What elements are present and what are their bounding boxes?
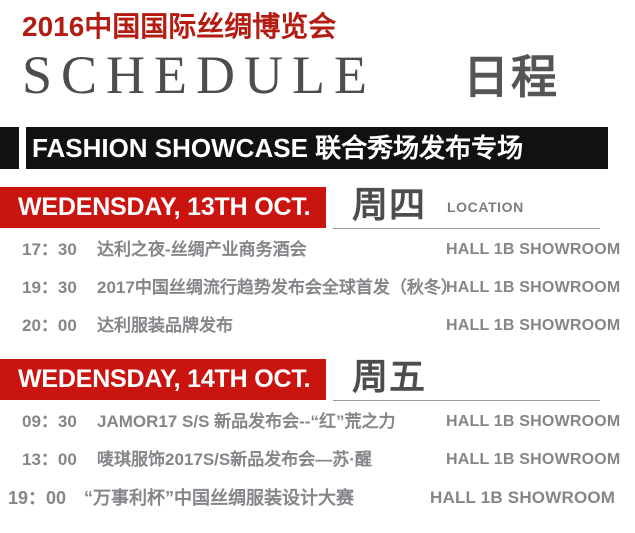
row-location: HALL 1B SHOWROOM (446, 403, 620, 441)
page-title-chinese: 日程 (463, 50, 559, 104)
row-event-title: 2017中国丝绸流行趋势发布会全球首发（秋冬） (97, 269, 458, 307)
row-time: 17：30 (22, 231, 94, 269)
row-event-title: JAMOR17 S/S 新品发布会--“红”荒之力 (97, 403, 395, 441)
day-rows-1: 17：30达利之夜-丝绸产业商务酒会HALL 1B SHOWROOM19：302… (0, 231, 635, 345)
day-date-label-2: WEDENSDAY, 14TH OCT. (18, 359, 310, 400)
row-location: HALL 1B SHOWROOM (446, 269, 620, 307)
schedule-row: 19：302017中国丝绸流行趋势发布会全球首发（秋冬）HALL 1B SHOW… (0, 269, 635, 307)
schedule-row: 09：30JAMOR17 S/S 新品发布会--“红”荒之力HALL 1B SH… (0, 403, 635, 441)
fashion-showcase-label: FASHION SHOWCASE 联合秀场发布专场 (32, 127, 523, 169)
day-weekday-1: 周四 (352, 181, 426, 229)
row-location: HALL 1B SHOWROOM (446, 231, 620, 269)
schedule-row: 17：30达利之夜-丝绸产业商务酒会HALL 1B SHOWROOM (0, 231, 635, 269)
row-location: HALL 1B SHOWROOM (446, 441, 620, 479)
row-event-title: 达利服装品牌发布 (97, 307, 233, 345)
day-date-label-1: WEDENSDAY, 13TH OCT. (18, 187, 310, 228)
day-date-ribbon-2: WEDENSDAY, 14TH OCT. (0, 359, 326, 400)
page-title: SCHEDULE (22, 44, 376, 106)
location-column-header: LOCATION (447, 197, 524, 217)
day-rule-2 (333, 400, 600, 401)
row-event-title: 达利之夜-丝绸产业商务酒会 (97, 231, 307, 269)
fashion-showcase-band: FASHION SHOWCASE 联合秀场发布专场 (0, 127, 608, 169)
row-time: 09：30 (22, 403, 94, 441)
row-time: 13：00 (22, 441, 94, 479)
day-header-2: WEDENSDAY, 14TH OCT. 周五 (0, 355, 635, 403)
day-rule-1 (333, 228, 600, 229)
day-block-2: WEDENSDAY, 14TH OCT. 周五 09：30JAMOR17 S/S… (0, 355, 635, 403)
schedule-row: 19：00“万事利杯”中国丝绸服装设计大赛HALL 1B SHOWROOM (0, 479, 635, 517)
row-location: HALL 1B SHOWROOM (430, 479, 615, 517)
schedule-row: 13：00唛琪服饰2017S/S新品发布会—苏·醒HALL 1B SHOWROO… (0, 441, 635, 479)
day-date-ribbon-1: WEDENSDAY, 13TH OCT. (0, 187, 326, 228)
expo-title: 2016中国国际丝绸博览会 (22, 10, 336, 44)
day-rows-2: 09：30JAMOR17 S/S 新品发布会--“红”荒之力HALL 1B SH… (0, 403, 635, 517)
row-time: 20：00 (22, 307, 94, 345)
band-notch (19, 127, 26, 169)
row-time: 19：30 (22, 269, 94, 307)
day-weekday-2: 周五 (352, 353, 426, 401)
day-block-1: WEDENSDAY, 13TH OCT. 周四 LOCATION 17：30达利… (0, 183, 635, 231)
row-time: 19：00 (8, 479, 80, 517)
schedule-row: 20：00达利服装品牌发布HALL 1B SHOWROOM (0, 307, 635, 345)
row-event-title: 唛琪服饰2017S/S新品发布会—苏·醒 (97, 441, 372, 479)
row-event-title: “万事利杯”中国丝绸服装设计大赛 (84, 479, 354, 517)
day-header-1: WEDENSDAY, 13TH OCT. 周四 LOCATION (0, 183, 635, 231)
row-location: HALL 1B SHOWROOM (446, 307, 620, 345)
